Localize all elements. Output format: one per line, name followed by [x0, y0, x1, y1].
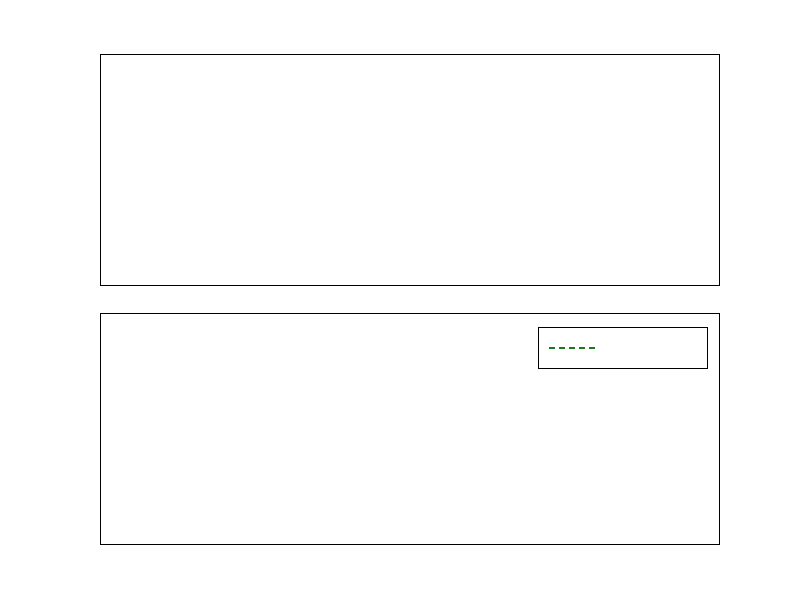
figure-canvas	[0, 0, 800, 600]
mag-limit-swatch-icon	[549, 347, 595, 349]
top-axes-histogram	[100, 54, 720, 286]
top-plot-area	[101, 55, 719, 285]
legend[interactable]	[538, 327, 708, 369]
